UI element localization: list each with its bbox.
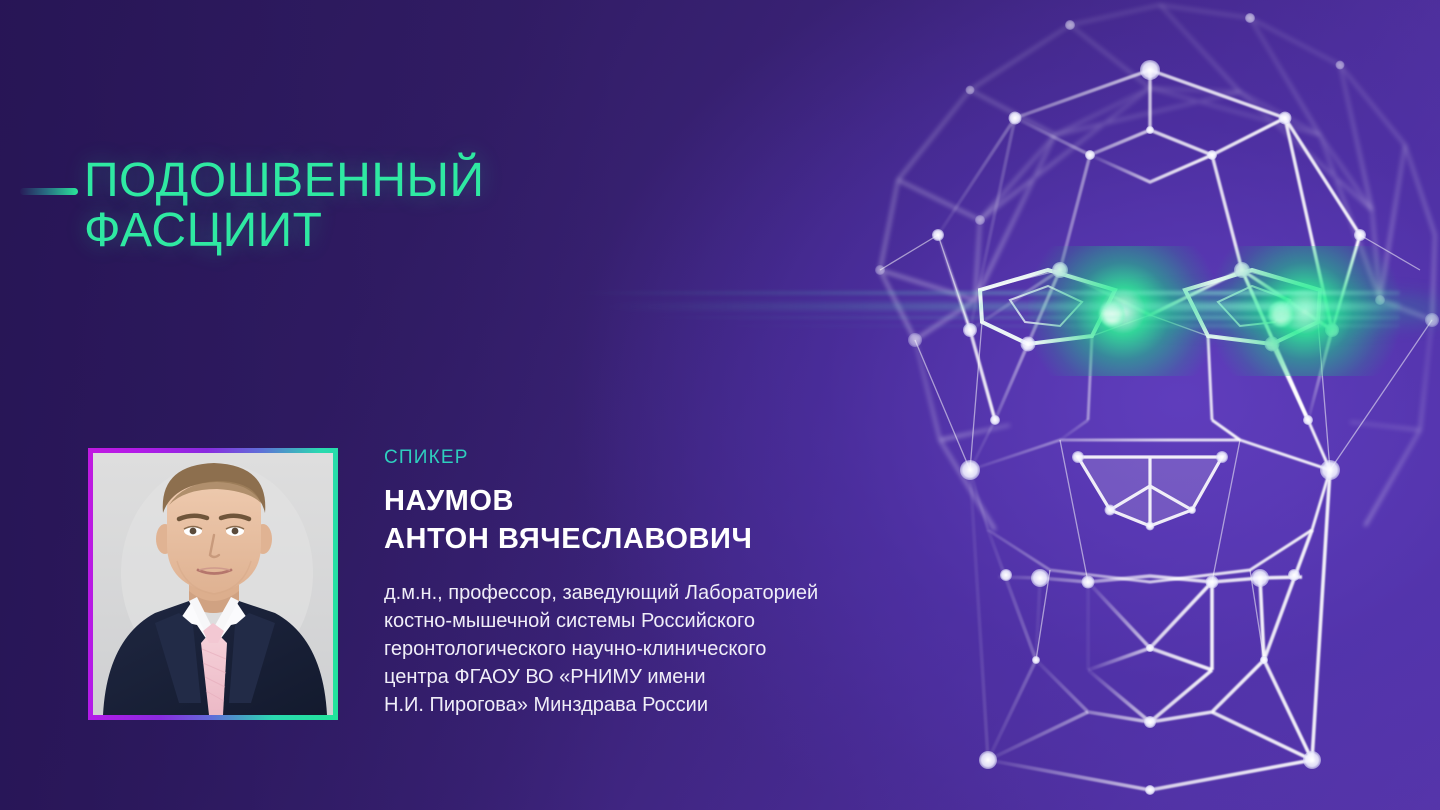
streak-glow: [880, 275, 1440, 345]
eye-core-right: [1268, 301, 1294, 327]
wireframe-mouth-jaw: [970, 470, 1330, 790]
speaker-photo-frame: [88, 448, 338, 720]
streak-line-4: [700, 325, 1400, 327]
title-block: ПОДОШВЕННЫЙ ФАСЦИИТ: [84, 156, 844, 256]
speaker-kicker-label: СПИКЕР: [384, 447, 984, 469]
wireframe-cheeks: [970, 336, 1330, 582]
speaker-name: НАУМОВ АНТОН ВЯЧЕСЛАВОВИЧ: [384, 482, 984, 558]
wireframe-nose: [1078, 457, 1222, 526]
wireframe-eye-glow-right: [1210, 246, 1400, 376]
avatar: [93, 453, 333, 715]
eye-core-left: [1099, 301, 1125, 327]
portrait-illustration: [93, 453, 333, 715]
speaker-description: д.м.н., профессор, заведующий Лаборатори…: [384, 579, 984, 719]
wireframe-nose-fill: [1078, 457, 1222, 526]
slide-canvas: ПОДОШВЕННЫЙ ФАСЦИИТ: [0, 0, 1440, 810]
wireframe-upper-face: [938, 70, 1360, 440]
streak-line-1: [570, 291, 1400, 295]
page-title: ПОДОШВЕННЫЙ ФАСЦИИТ: [84, 156, 844, 256]
title-dash-icon: [20, 188, 78, 195]
speaker-block: СПИКЕР НАУМОВ АНТОН ВЯЧЕСЛАВОВИЧ д.м.н.,…: [384, 447, 984, 719]
